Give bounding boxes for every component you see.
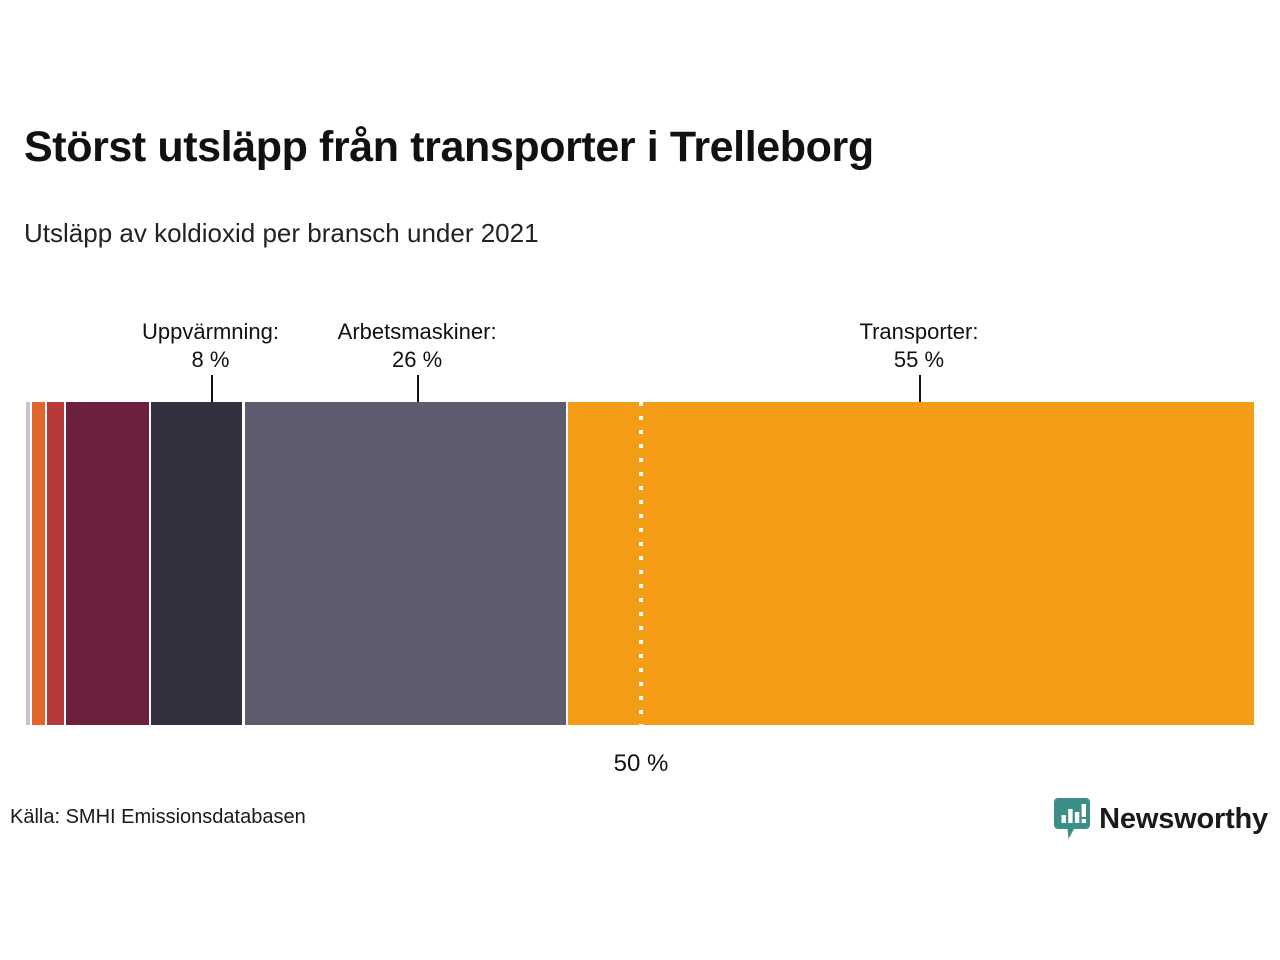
chart-subtitle: Utsläpp av koldioxid per bransch under 2… xyxy=(24,218,539,249)
reference-line-50pct xyxy=(639,402,643,725)
newsworthy-bars-bubble-icon xyxy=(1054,798,1090,840)
annotation-leader-tick xyxy=(211,375,213,402)
annotation-value: 26 % xyxy=(338,346,497,374)
bar-segment xyxy=(66,402,149,725)
annotation-label: Uppvärmning: xyxy=(142,318,279,346)
annotation-value: 8 % xyxy=(142,346,279,374)
newsworthy-logo[interactable]: Newsworthy xyxy=(1054,798,1268,840)
page-title: Störst utsläpp från transporter i Trelle… xyxy=(24,125,874,170)
annotation-value: 55 % xyxy=(859,346,978,374)
annotation-transporter: Transporter:55 % xyxy=(859,318,978,373)
chart-canvas: Störst utsläpp från transporter i Trelle… xyxy=(0,0,1280,960)
bar-segment xyxy=(47,402,64,725)
annotation-uppvärmning: Uppvärmning:8 % xyxy=(142,318,279,373)
bar-segment xyxy=(32,402,45,725)
bar-segment xyxy=(151,402,243,725)
annotation-label: Arbetsmaskiner: xyxy=(338,318,497,346)
source-note: Källa: SMHI Emissionsdatabasen xyxy=(10,806,306,829)
annotation-leader-tick xyxy=(417,375,419,402)
annotation-leader-tick xyxy=(919,375,921,402)
annotation-arbetsmaskiner: Arbetsmaskiner:26 % xyxy=(338,318,497,373)
newsworthy-logo-text: Newsworthy xyxy=(1099,805,1268,834)
bar-segment xyxy=(26,402,30,725)
bar-segment xyxy=(245,402,567,725)
bar-segment xyxy=(568,402,1253,725)
annotation-label: Transporter: xyxy=(859,318,978,346)
reference-line-label: 50 % xyxy=(614,750,669,778)
